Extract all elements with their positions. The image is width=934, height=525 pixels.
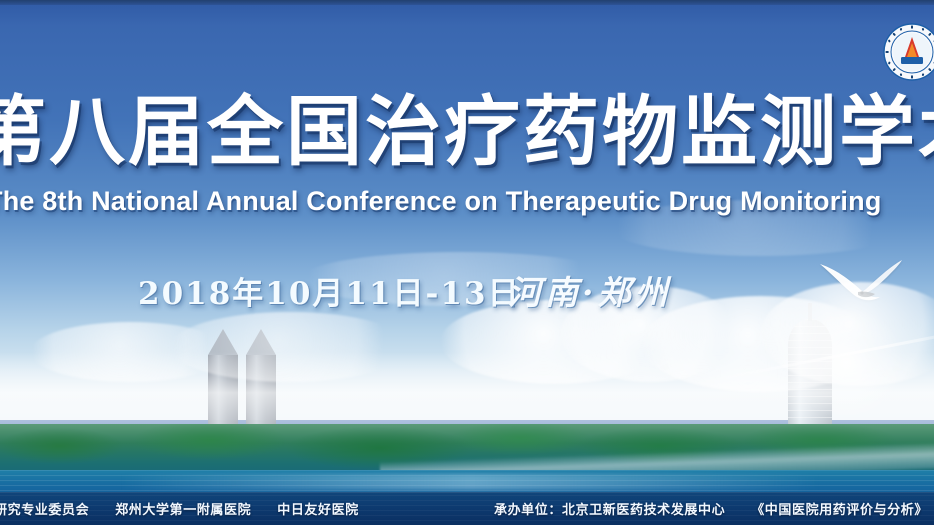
footer-left-group: 研究专业委员会 郑州大学第一附属医院 中日友好医院 [0,499,359,518]
page-subtitle: The 8th National Annual Conference on Th… [0,186,934,217]
organizer-item: 郑州大学第一附属医院 [115,499,251,518]
conference-location: 河南·郑州 [508,266,672,314]
conference-emblem-icon [883,23,934,81]
water-reflection [120,474,820,490]
organizers-bar: 研究专业委员会 郑州大学第一附属医院 中日友好医院 承办单位：北京卫新医药技术发… [0,492,934,525]
top-edge-strip [0,0,934,5]
conference-banner: 第八届全国治疗药物监测学术年会 The 8th National Annual … [0,0,934,525]
host-unit-item: 承办单位：北京卫新医药技术发展中心 [494,499,725,518]
page-title: 第八届全国治疗药物监测学术年会 [0,88,934,176]
organizer-item: 中日友好医院 [277,499,359,518]
conference-date: 2018年10月11日-13日 [138,268,521,313]
journal-item: 《中国医院用药评价与分析》 [751,499,928,518]
cloud [170,312,410,382]
organizer-item: 研究专业委员会 [0,499,89,518]
footer-right-group: 承办单位：北京卫新医药技术发展中心 《中国医院用药评价与分析》 [494,499,928,518]
